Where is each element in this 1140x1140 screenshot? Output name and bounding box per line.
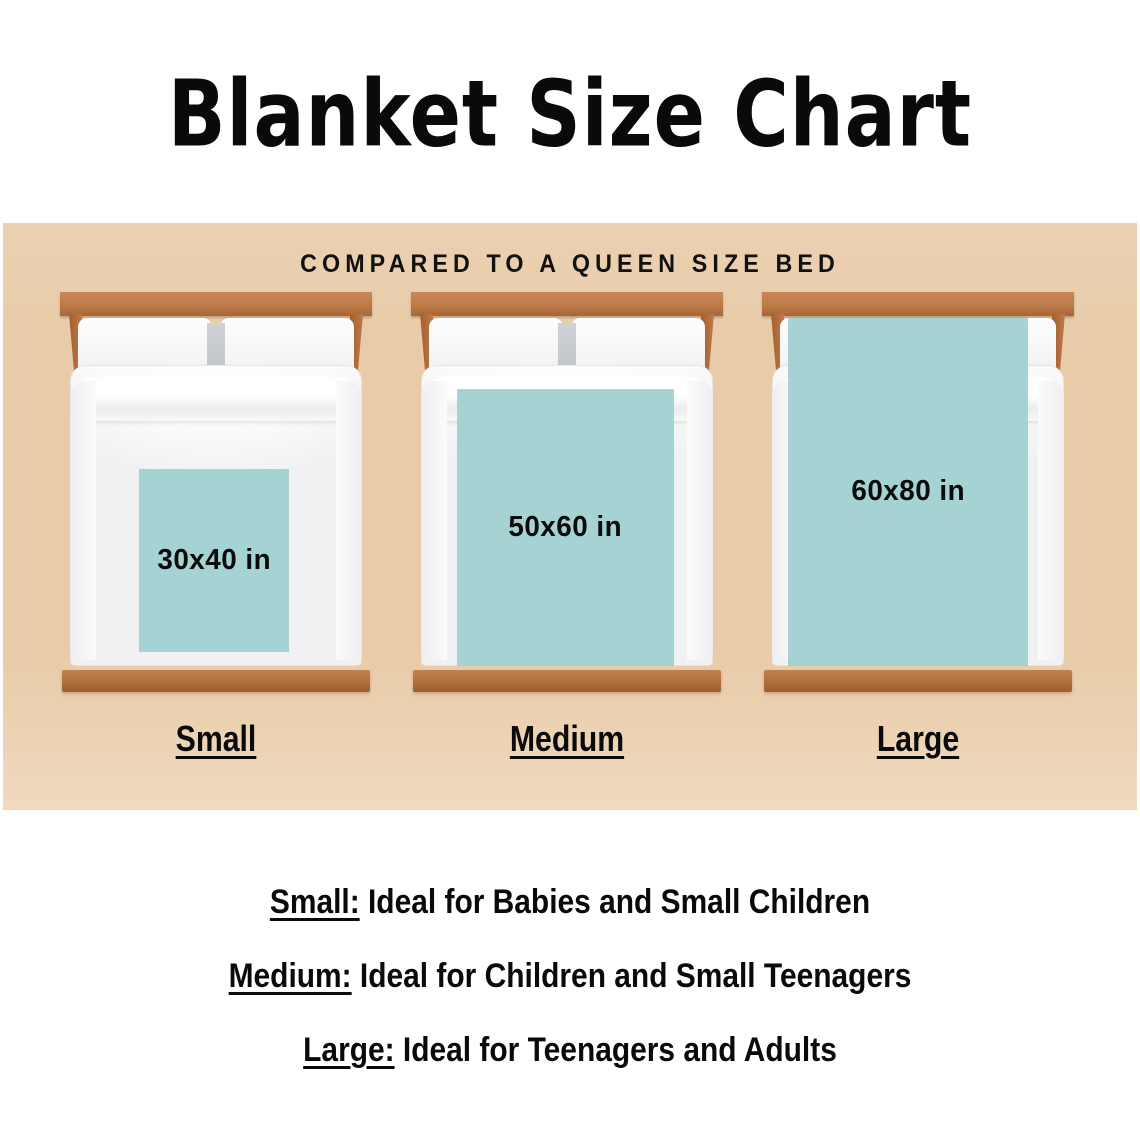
duvet-drape-right [1038,381,1064,660]
footboard [413,670,721,692]
bed-illustration-large: 60x80 in [762,292,1074,692]
page-title: Blanket Size Chart [17,58,1123,171]
blanket-swatch-small: 30x40 in [140,470,288,651]
size-caption-medium-text: Medium [510,718,624,759]
description-key-large: Large: [303,1031,394,1069]
footboard [764,670,1072,692]
footboard [62,670,370,692]
description-key-medium: Medium: [229,957,352,995]
description-text-medium: Ideal for Children and Small Teenagers [352,957,912,995]
description-line-medium: Medium: Ideal for Children and Small Tee… [68,939,1071,1013]
size-caption-small: Small [85,718,347,760]
duvet-fold [72,377,360,421]
blanket-size-label: 30x40 in [157,544,271,577]
size-caption-large-text: Large [877,718,959,759]
duvet-drape-left [421,381,447,660]
duvet-drape-left [70,381,96,660]
bed-illustration-small: 30x40 in [60,292,372,692]
description-text-small: Ideal for Babies and Small Children [360,883,870,921]
size-caption-medium: Medium [436,718,698,760]
blanket-size-chart-page: Blanket Size Chart COMPARED TO A QUEEN S… [0,0,1140,1140]
blanket-size-label: 50x60 in [509,511,623,544]
description-line-small: Small: Ideal for Babies and Small Childr… [68,865,1071,939]
description-key-small: Small: [270,883,360,921]
blanket-swatch-large: 60x80 in [789,318,1027,665]
blanket-size-label: 60x80 in [851,475,965,508]
description-text-large: Ideal for Teenagers and Adults [395,1031,837,1069]
size-caption-small-text: Small [176,718,257,759]
description-line-large: Large: Ideal for Teenagers and Adults [68,1013,1071,1087]
duvet-drape-right [687,381,713,660]
blanket-swatch-medium: 50x60 in [458,390,673,665]
panel-heading: COMPARED TO A QUEEN SIZE BED [40,250,1100,279]
duvet-drape-right [336,381,362,660]
description-list: Small: Ideal for Babies and Small Childr… [0,865,1140,1087]
size-caption-large: Large [787,718,1049,760]
bed-illustration-medium: 50x60 in [411,292,723,692]
